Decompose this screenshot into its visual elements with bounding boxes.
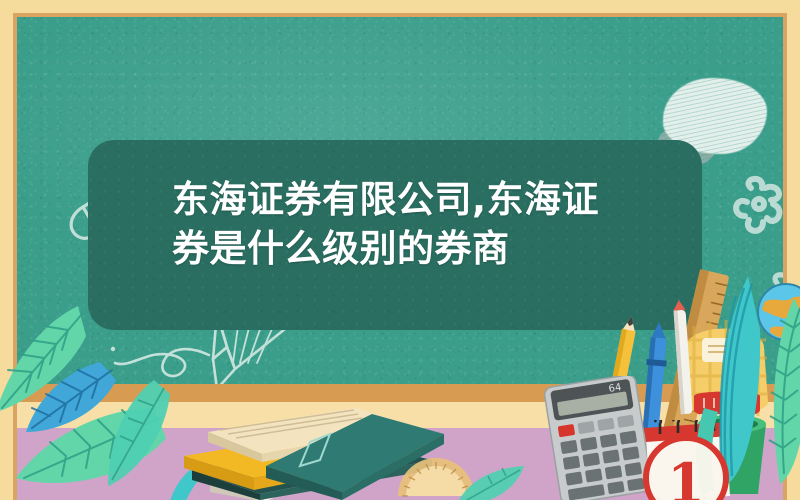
page-title-line1: 东海证券有限公司,东海证 xyxy=(172,178,599,221)
magnifier-badge: 1 xyxy=(667,451,705,500)
page-title: 东海证券有限公司,东海证券是什么级别的券商 xyxy=(172,176,602,274)
leaf-accent-bottom xyxy=(452,462,532,500)
banner-image: 东海证券有限公司,东海证券是什么级别的券商 xyxy=(0,0,800,500)
flower-chalk-drawing-large xyxy=(729,172,783,240)
magnifying-glass: 1 xyxy=(614,428,734,500)
calculator-display: 64 xyxy=(608,382,622,395)
page-title-line2: 券是什么级别的券商 xyxy=(172,227,510,270)
